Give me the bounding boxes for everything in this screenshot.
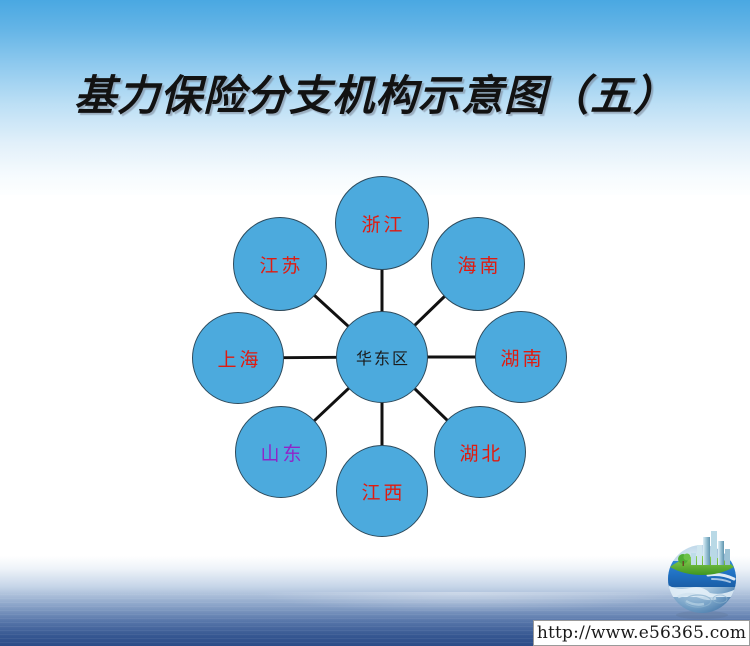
branch-node-label: 江苏 (256, 251, 303, 278)
branch-node-label: 江西 (358, 478, 405, 505)
diagram-branch-node[interactable]: 浙江 (335, 176, 429, 270)
branch-node-label: 湖北 (456, 439, 503, 466)
branch-node-label: 山东 (257, 439, 304, 466)
diagram-edge (414, 296, 445, 326)
watermark-url-box: http://www.e56365.com (533, 620, 750, 646)
org-chart-diagram: 浙江海南湖南湖北江西山东上海江苏华东区 (0, 0, 750, 646)
diagram-branch-node[interactable]: 江西 (336, 445, 428, 537)
diagram-edge (314, 295, 349, 327)
branch-node-label: 浙江 (358, 210, 405, 237)
diagram-branch-node[interactable]: 山东 (235, 406, 327, 498)
diagram-branch-node[interactable]: 江苏 (233, 217, 327, 311)
diagram-edge (414, 388, 447, 420)
diagram-branch-node[interactable]: 湖南 (475, 311, 567, 403)
center-node-label: 华东区 (354, 345, 410, 369)
diagram-branch-node[interactable]: 上海 (192, 312, 284, 404)
globe-city-logo (656, 527, 748, 619)
diagram-center-node[interactable]: 华东区 (336, 311, 428, 403)
diagram-edge (314, 388, 349, 421)
diagram-branch-node[interactable]: 海南 (431, 217, 525, 311)
branch-node-label: 上海 (214, 345, 261, 372)
slide-canvas: 基力保险分支机构示意图（五） 浙江海南湖南湖北江西山东上海江苏华东区 (0, 0, 750, 646)
diagram-branch-node[interactable]: 湖北 (434, 406, 526, 498)
branch-node-label: 湖南 (497, 344, 544, 371)
watermark-url-text: http://www.e56365.com (537, 623, 746, 643)
branch-node-label: 海南 (454, 251, 501, 278)
